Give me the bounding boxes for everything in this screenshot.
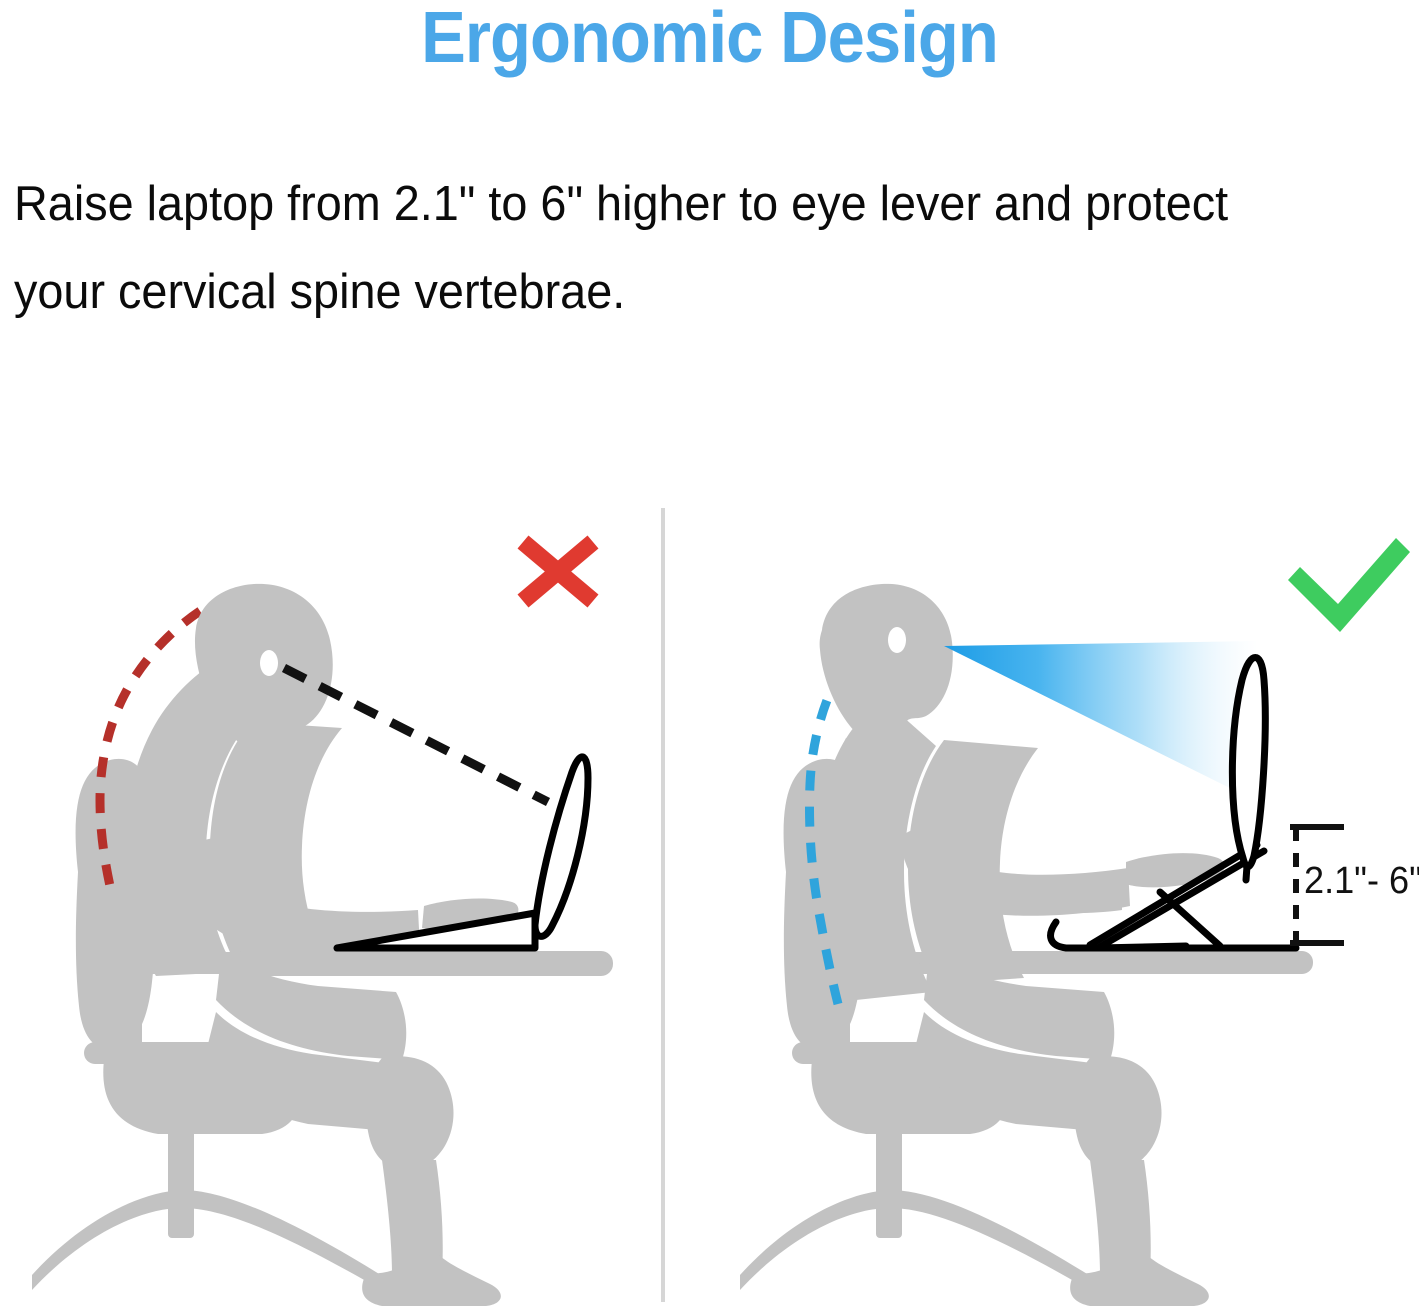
left-eye: [260, 650, 278, 676]
right-laptop-screen: [1232, 658, 1265, 867]
check-icon: [1288, 538, 1410, 632]
dimension-label: 2.1"- 6": [1304, 860, 1419, 902]
right-desk: [955, 951, 1313, 974]
right-panel-good-posture: [740, 538, 1410, 1306]
comparison-illustration: [0, 0, 1419, 1309]
left-desk: [232, 951, 613, 976]
right-eye: [888, 627, 906, 653]
cross-icon: [523, 542, 593, 601]
infographic-page: Ergonomic Design Raise laptop from 2.1" …: [0, 0, 1419, 1309]
left-panel-bad-posture: [32, 542, 613, 1306]
